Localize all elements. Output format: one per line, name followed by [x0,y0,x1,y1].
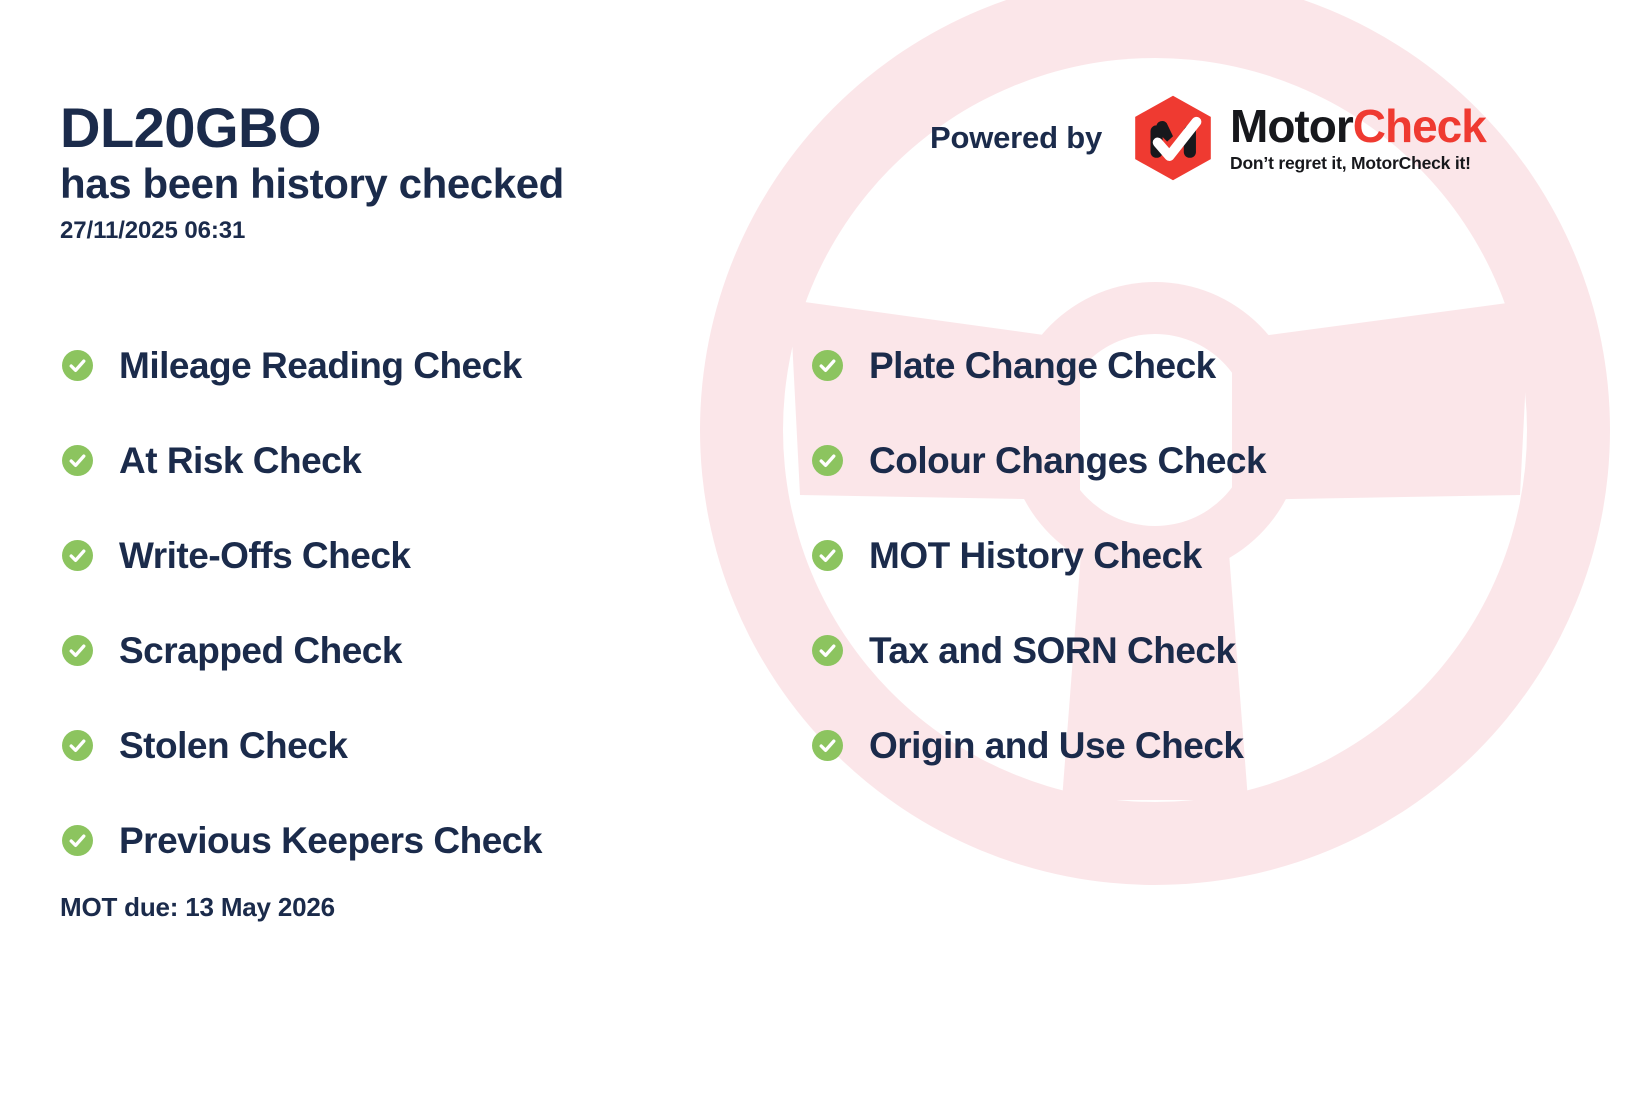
list-item: Colour Changes Check [812,413,1452,508]
list-item: Scrapped Check [62,603,762,698]
check-circle-icon [62,350,93,381]
motorcheck-wordmark: MotorCheck Don’t regret it, MotorCheck i… [1230,103,1486,174]
check-timestamp: 27/11/2025 06:31 [60,217,780,245]
check-circle-icon [812,350,843,381]
logo-name-part1: Motor [1230,100,1353,152]
check-label: Tax and SORN Check [869,632,1236,669]
check-label: Scrapped Check [119,632,402,669]
check-circle-icon [812,540,843,571]
motorcheck-hexagon-logo-icon [1128,93,1218,183]
check-circle-icon [62,635,93,666]
check-label: Previous Keepers Check [119,822,542,859]
check-label: Colour Changes Check [869,442,1266,479]
list-item: MOT History Check [812,508,1452,603]
page-title: DL20GBO [60,98,780,157]
list-item: Write-Offs Check [62,508,762,603]
check-list-right: Plate Change Check Colour Changes Check … [812,318,1452,793]
check-circle-icon [812,635,843,666]
check-label: MOT History Check [869,537,1202,574]
check-label: Origin and Use Check [869,727,1244,764]
list-item: Tax and SORN Check [812,603,1452,698]
list-item: Origin and Use Check [812,698,1452,793]
list-item: Plate Change Check [812,318,1452,413]
logo-name-part2: Check [1353,100,1486,152]
list-item: Mileage Reading Check [62,318,762,413]
check-label: Write-Offs Check [119,537,411,574]
motorcheck-name: MotorCheck [1230,103,1486,149]
check-label: Stolen Check [119,727,347,764]
check-label: Mileage Reading Check [119,347,522,384]
powered-by-label: Powered by [930,120,1102,156]
check-circle-icon [62,730,93,761]
header-block: DL20GBO has been history checked 27/11/2… [60,98,780,245]
vehicle-history-check-card: DL20GBO has been history checked 27/11/2… [0,0,1650,1100]
check-circle-icon [62,445,93,476]
mot-due-text: MOT due: 13 May 2026 [60,892,335,923]
check-circle-icon [812,730,843,761]
check-circle-icon [812,445,843,476]
list-item: Stolen Check [62,698,762,793]
check-label: Plate Change Check [869,347,1216,384]
check-label: At Risk Check [119,442,361,479]
powered-by-block: Powered by MotorCheck Don’t regret it, M… [930,95,1486,181]
page-subtitle: has been history checked [60,159,780,209]
check-list-left: Mileage Reading Check At Risk Check Writ… [62,318,762,888]
list-item: Previous Keepers Check [62,793,762,888]
list-item: At Risk Check [62,413,762,508]
check-circle-icon [62,540,93,571]
check-circle-icon [62,825,93,856]
motorcheck-tagline: Don’t regret it, MotorCheck it! [1230,153,1486,174]
